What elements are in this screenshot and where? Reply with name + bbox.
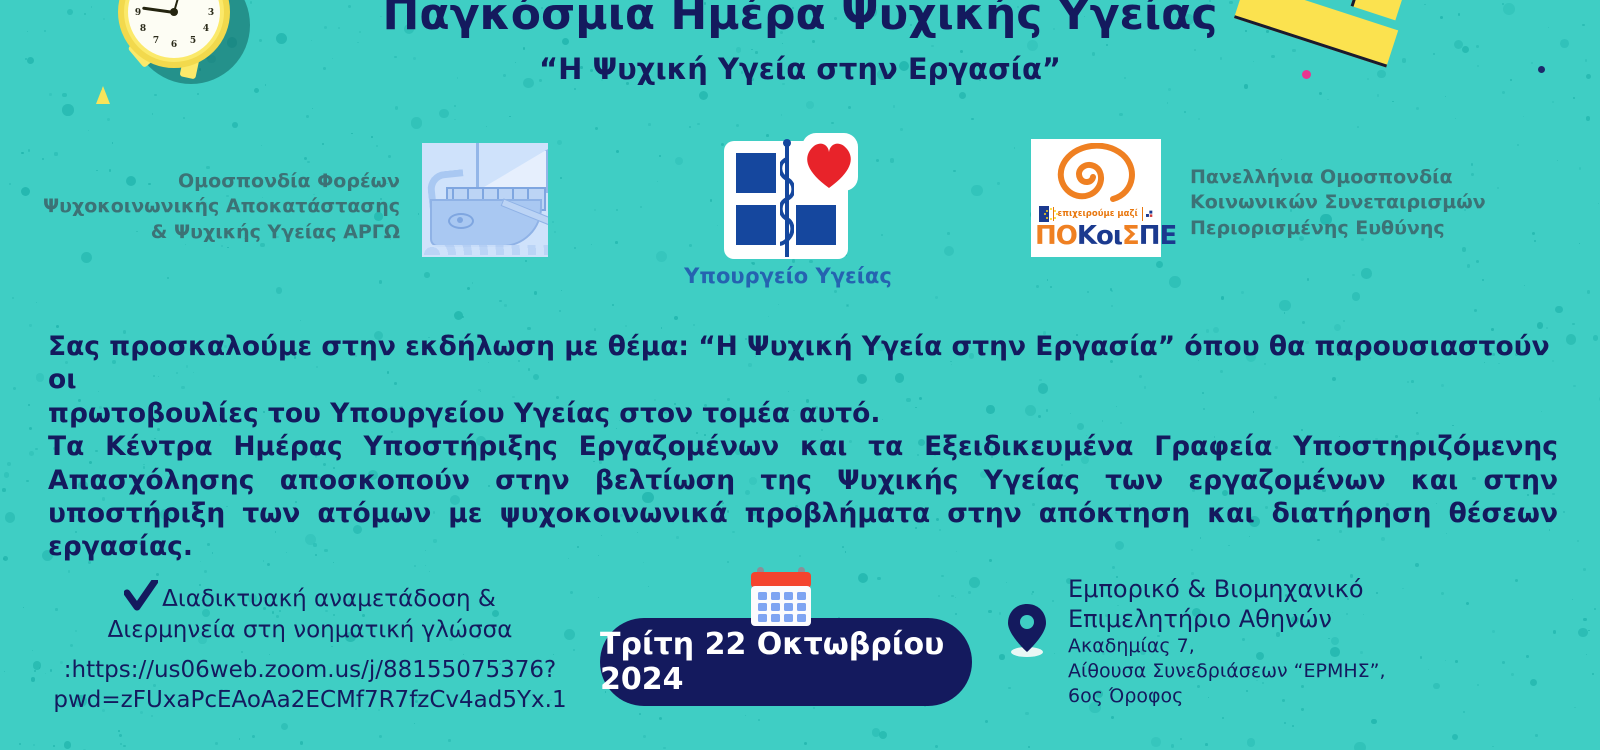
- ministry-of-health-icon: [724, 141, 852, 261]
- check-icon: [124, 580, 158, 612]
- footer: Διαδικτυακή αναμετάδοση & Διερμηνεία στη…: [0, 560, 1600, 750]
- argo-line-3: & Ψυχικής Υγείας ΑΡΓΩ: [20, 220, 400, 245]
- pokoispe-wordmark: ΠΟΚοιΣΠΕ: [1035, 223, 1159, 249]
- venue-line-5: 6ος Όροφος: [1068, 684, 1488, 709]
- wordmark-koi: Κοι: [1077, 221, 1122, 251]
- wordmark-s: Σ: [1122, 221, 1139, 251]
- paragraph-1-line-1: Σας προσκαλούμε στην εκδήλωση με θέμα: “…: [48, 330, 1558, 397]
- argo-line-1: Ομοσπονδία Φορέων: [20, 169, 400, 194]
- calendar-icon: [745, 562, 817, 634]
- zoom-link[interactable]: :https://us06web.zoom.us/j/88155075376? …: [30, 656, 590, 716]
- yellow-triangle-icon: [96, 86, 110, 104]
- map-pin-icon: [1006, 602, 1048, 658]
- argo-org-name: Ομοσπονδία Φορέων Ψυχοκοινωνικής Αποκατά…: [20, 169, 400, 245]
- pokoispe-icon: επιχειρούμε μαζί ΠΟΚοιΣΠΕ: [1031, 139, 1161, 257]
- zoom-link-line-1[interactable]: :https://us06web.zoom.us/j/88155075376?: [30, 656, 590, 686]
- venue-line-4: Αίθουσα Συνεδριάσεων “ΕΡΜΗΣ”,: [1068, 659, 1488, 684]
- page-subtitle: “Η Ψυχική Υγεία στην Εργασία”: [0, 52, 1600, 86]
- page-title: Παγκόσμια Ημέρα Ψυχικής Υγείας: [0, 0, 1600, 38]
- venue-line-3: Ακαδημίας 7,: [1068, 634, 1488, 659]
- pokoispe-line-1: Πανελλήνια Ομοσπονδία: [1190, 165, 1580, 190]
- event-date-label: Τρίτη 22 Οκτωβρίου 2024: [600, 627, 972, 697]
- asclepius-rod-icon: [780, 139, 794, 259]
- online-broadcast-block: Διαδικτυακή αναμετάδοση & Διερμηνεία στη…: [30, 580, 590, 716]
- online-line-1: Διαδικτυακή αναμετάδοση &: [162, 586, 496, 612]
- argo-line-2: Ψυχοκοινωνικής Αποκατάστασης: [20, 194, 400, 219]
- poster-root: 12 1 2 3 4 5 6 7 8 9 10 11 Παγκόσμια Ημέ…: [0, 0, 1600, 750]
- heart-icon: [801, 139, 857, 189]
- logo-row: Ομοσπονδία Φορέων Ψυχοκοινωνικής Αποκατά…: [0, 133, 1600, 293]
- pokoispe-org-name: Πανελλήνια Ομοσπονδία Κοινωνικών Συνεται…: [1190, 165, 1580, 241]
- pokoispe-line-3: Περιορισμένης Ευθύνης: [1190, 216, 1580, 241]
- wordmark-pe: ΠΕ: [1139, 221, 1177, 251]
- wordmark-po: ΠΟ: [1035, 221, 1077, 251]
- online-line-2: Διερμηνεία στη νοηματική γλώσσα: [30, 615, 590, 646]
- paragraph-1-line-2: πρωτοβουλίες του Υπουργείου Υγείας στον …: [48, 397, 1558, 430]
- argo-ship-icon: [422, 143, 548, 257]
- greece-mark-icon: [1146, 206, 1153, 222]
- zoom-link-line-2[interactable]: pwd=zFUxaPcEAoAa2ECMf7R7fzCv4ad5Yx.1: [30, 686, 590, 716]
- orange-spiral-eye-icon: [1053, 143, 1139, 205]
- header: Παγκόσμια Ημέρα Ψυχικής Υγείας “Η Ψυχική…: [0, 0, 1600, 86]
- ministry-of-health-caption: Υπουργείο Υγείας: [660, 264, 916, 288]
- body-copy: Σας προσκαλούμε στην εκδήλωση με θέμα: “…: [48, 330, 1558, 597]
- venue-line-1: Εμπορικό & Βιομηχανικό: [1068, 574, 1488, 604]
- venue-line-2: Επιμελητήριο Αθηνών: [1068, 604, 1488, 634]
- eu-flag-icon: [1039, 206, 1049, 222]
- eu-strip-text: επιχειρούμε μαζί: [1058, 209, 1138, 219]
- venue-block: Εμπορικό & Βιομηχανικό Επιμελητήριο Αθην…: [1068, 574, 1488, 709]
- online-text: Διαδικτυακή αναμετάδοση & Διερμηνεία στη…: [30, 580, 590, 646]
- pokoispe-line-2: Κοινωνικών Συνεταιρισμών: [1190, 190, 1580, 215]
